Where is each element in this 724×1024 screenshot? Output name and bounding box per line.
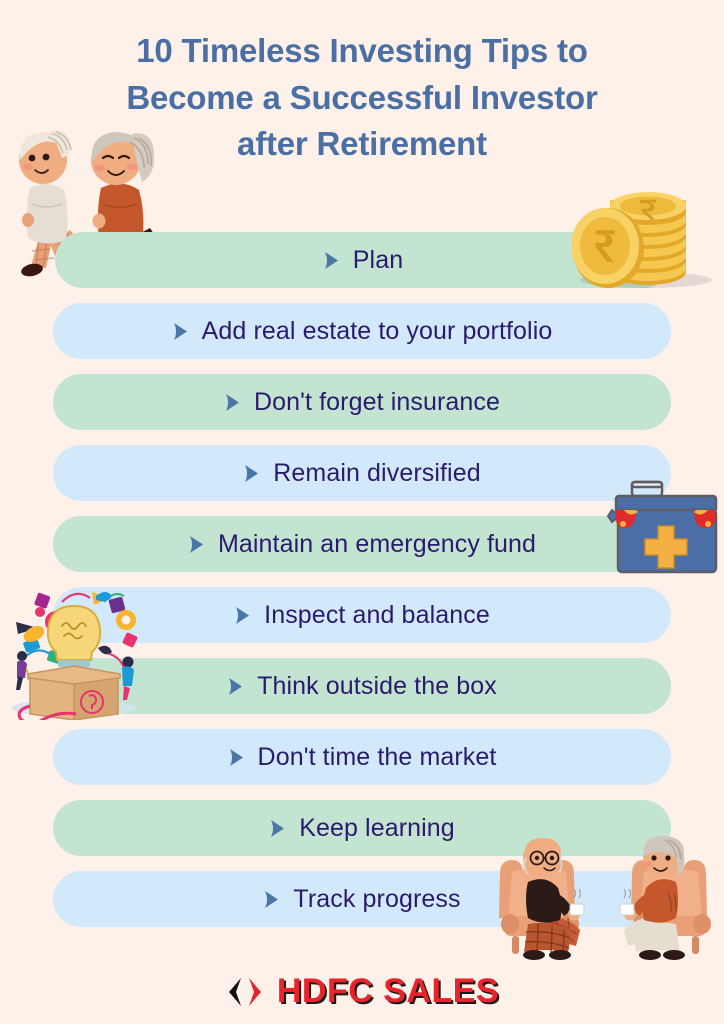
brand-logo: HDFC SALES: [0, 972, 724, 1011]
tip-label: Remain diversified: [273, 459, 480, 488]
tip-item-1[interactable]: Plan: [55, 232, 671, 288]
tip-item-4[interactable]: Remain diversified: [53, 445, 671, 501]
tip-item-2[interactable]: Add real estate to your portfolio: [53, 303, 671, 359]
arrow-right-icon: [188, 535, 205, 554]
tip-item-9[interactable]: Keep learning: [53, 800, 671, 856]
arrow-right-icon: [269, 819, 286, 838]
tips-list: Plan Add real estate to your portfolio D…: [0, 232, 724, 932]
tip-label: Think outside the box: [257, 672, 497, 701]
tip-label: Keep learning: [299, 814, 455, 843]
infographic-poster: 10 Timeless Investing Tips to Become a S…: [0, 0, 724, 1024]
arrow-right-icon: [243, 464, 260, 483]
arrow-right-icon: [323, 251, 340, 270]
page-title: 10 Timeless Investing Tips to Become a S…: [34, 28, 690, 168]
arrow-right-icon: [172, 322, 189, 341]
tip-label: Don't time the market: [258, 743, 497, 772]
tip-item-7[interactable]: Think outside the box: [53, 658, 671, 714]
tip-label: Inspect and balance: [264, 601, 490, 630]
arrow-right-icon: [224, 393, 241, 412]
arrow-right-icon: [227, 677, 244, 696]
tip-label: Track progress: [293, 885, 460, 914]
tip-item-5[interactable]: Maintain an emergency fund: [53, 516, 671, 572]
tip-item-3[interactable]: Don't forget insurance: [53, 374, 671, 430]
tip-item-10[interactable]: Track progress: [53, 871, 671, 927]
tip-label: Maintain an emergency fund: [218, 530, 536, 559]
diamond-chevron-logo-icon: [225, 976, 265, 1008]
tip-label: Add real estate to your portfolio: [202, 317, 553, 346]
arrow-right-icon: [263, 890, 280, 909]
tip-item-6[interactable]: Inspect and balance: [53, 587, 671, 643]
brand-name: HDFC SALES: [277, 972, 499, 1011]
tip-label: Plan: [353, 246, 403, 275]
tip-item-8[interactable]: Don't time the market: [53, 729, 671, 785]
tip-label: Don't forget insurance: [254, 388, 500, 417]
arrow-right-icon: [234, 606, 251, 625]
arrow-right-icon: [228, 748, 245, 767]
